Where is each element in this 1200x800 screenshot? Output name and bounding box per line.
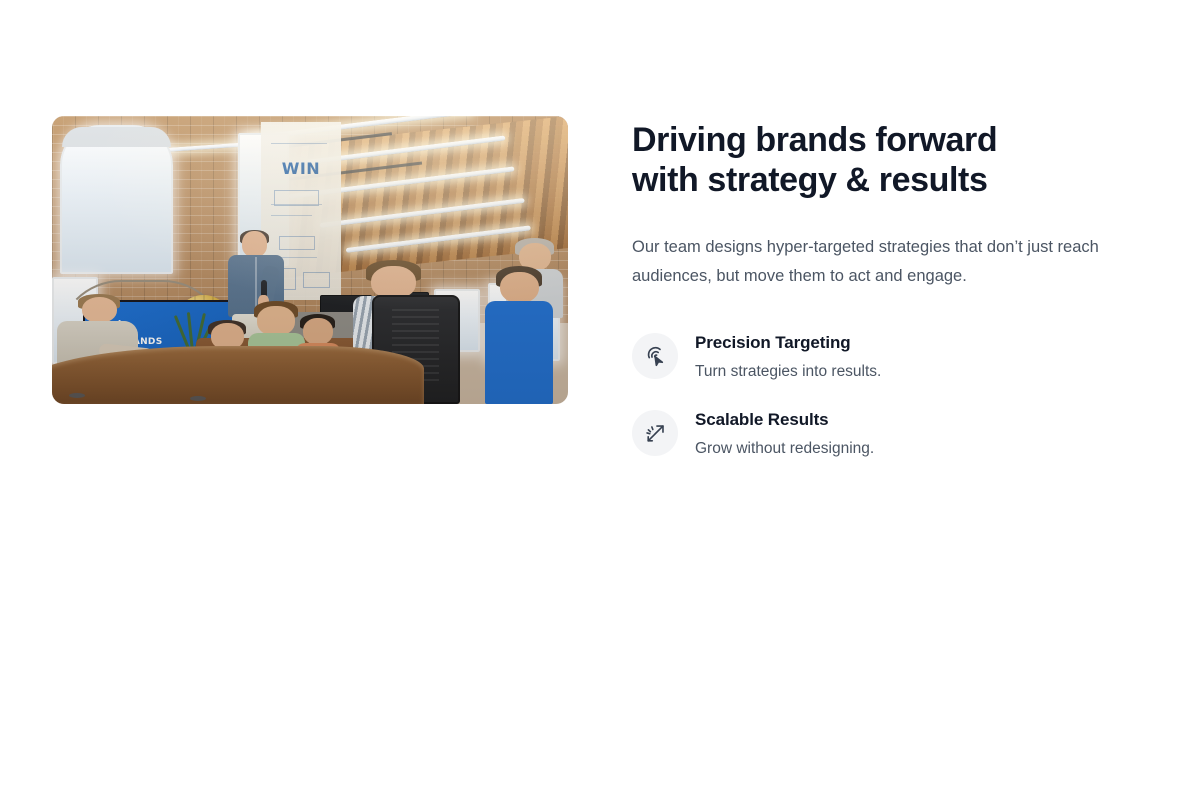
scale-arrow-icon: [632, 410, 678, 456]
hero-copy: Driving brands forward with strategy & r…: [632, 116, 1148, 459]
conference-table: [52, 346, 424, 404]
headline-line-1: Driving brands forward: [632, 121, 997, 159]
office-photo: WIN Proof ALL HANDS 4/26/20: [52, 116, 568, 404]
hero-image: WIN Proof ALL HANDS 4/26/20: [52, 116, 568, 404]
window: [60, 125, 174, 275]
cursor-click-icon: [632, 333, 678, 379]
feature-text-block: Precision Targeting Turn strategies into…: [695, 332, 881, 382]
hero-row: WIN Proof ALL HANDS 4/26/20: [52, 116, 1148, 459]
page-title: Driving brands forward with strategy & r…: [632, 120, 1148, 200]
headline-line-2: with strategy & results: [632, 161, 987, 199]
feature-description: Grow without redesigning.: [695, 439, 874, 459]
feature-description: Turn strategies into results.: [695, 362, 881, 382]
feature-title: Precision Targeting: [695, 332, 881, 354]
wall-mural-text: WIN: [282, 159, 321, 178]
feature-text-block: Scalable Results Grow without redesignin…: [695, 409, 874, 459]
audience-member: [485, 272, 552, 404]
feature-item-precision-targeting: Precision Targeting Turn strategies into…: [632, 332, 1148, 382]
feature-title: Scalable Results: [695, 409, 874, 431]
feature-list: Precision Targeting Turn strategies into…: [632, 332, 1148, 459]
landing-section: WIN Proof ALL HANDS 4/26/20: [0, 0, 1200, 800]
hero-subhead: Our team designs hyper-targeted strategi…: [632, 233, 1148, 291]
feature-item-scalable-results: Scalable Results Grow without redesignin…: [632, 409, 1148, 459]
